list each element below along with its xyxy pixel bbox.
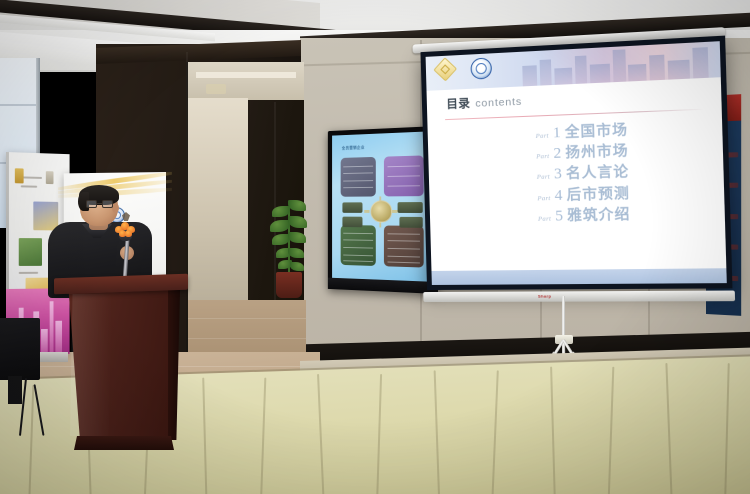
slide-title-en: contents xyxy=(475,96,522,110)
contents-part-label: Part xyxy=(537,174,550,182)
floor-monitor[interactable] xyxy=(0,318,40,380)
contents-item: Part 3 名人言论 xyxy=(537,162,712,184)
wall-tv-monitor[interactable]: 全员营销企业 xyxy=(328,126,438,294)
diagram-quadrant-top-left xyxy=(341,157,376,197)
slide-footer-bar xyxy=(431,269,726,285)
screen-brand-label: Sharp xyxy=(538,293,551,298)
tv-slide-title: 全员营销企业 xyxy=(342,144,365,151)
corridor-wall-sconce xyxy=(206,84,226,94)
contents-item: Part 4 后市预测 xyxy=(537,183,712,204)
eyeglasses-icon xyxy=(86,200,113,208)
screen-bottom-bar xyxy=(423,291,735,303)
diagram-quadrant-bottom-right xyxy=(384,226,423,268)
poster-photo xyxy=(19,238,42,266)
podium-highlight xyxy=(70,294,112,436)
microphone-flower-decoration xyxy=(114,222,136,238)
corridor-light xyxy=(196,72,296,78)
presentation-slide: 目录 contents Part 1 全国市场 Part 2 扬州市场 xyxy=(426,41,727,285)
podium-side-edge xyxy=(168,290,180,440)
window-mullion xyxy=(0,104,40,106)
slide-title-cn: 目录 xyxy=(446,95,470,112)
poster-photo xyxy=(33,201,58,229)
diagram-tag-tools xyxy=(400,217,423,228)
circular-seal-icon xyxy=(470,57,492,79)
conference-room-scene: 全员营销企业 xyxy=(0,0,750,494)
corridor-wall xyxy=(188,98,248,308)
contents-text: 雅筑介绍 xyxy=(567,206,631,222)
contents-part-label: Part xyxy=(537,194,550,201)
diagram-quadrant-top-right xyxy=(384,156,423,197)
contents-item: Part 5 雅筑介绍 xyxy=(538,204,713,224)
poster-thumbnail xyxy=(15,169,24,183)
contents-item: Part 2 扬州市场 xyxy=(536,140,711,162)
diagram-center-hub xyxy=(370,201,392,223)
contents-number: 1 xyxy=(553,126,561,142)
diagram-tag-strategy xyxy=(343,202,363,212)
monitor-stand xyxy=(8,376,22,404)
speaker-ear xyxy=(112,203,119,213)
contents-part-label: Part xyxy=(538,215,551,222)
contents-text: 扬州市场 xyxy=(565,143,629,160)
contents-part-label: Part xyxy=(536,153,549,161)
slide-title: 目录 contents xyxy=(446,92,522,111)
poster-thumbnail xyxy=(46,171,54,183)
contents-number: 2 xyxy=(553,146,561,162)
diagram-quadrant-bottom-left xyxy=(341,225,376,266)
diagram-tag-organization xyxy=(398,202,423,212)
contents-text: 名人言论 xyxy=(566,164,630,180)
diagram-tag-customers xyxy=(343,217,363,227)
plant-pot xyxy=(276,272,302,298)
screen-frame: 目录 contents Part 1 全国市场 Part 2 扬州市场 xyxy=(421,36,733,290)
contents-part-label: Part xyxy=(536,132,549,140)
diamond-emblem-icon xyxy=(434,58,458,82)
contents-item: Part 1 全国市场 xyxy=(535,119,710,142)
speaker-podium xyxy=(54,276,188,452)
contents-text: 全国市场 xyxy=(565,122,629,139)
contents-number: 3 xyxy=(554,167,562,183)
slide-contents-list: Part 1 全国市场 Part 2 扬州市场 Part 3 名人言论 xyxy=(535,119,712,229)
tv-screen-content: 全员营销企业 xyxy=(332,131,433,282)
projection-screen[interactable]: 目录 contents Part 1 全国市场 Part 2 扬州市场 xyxy=(421,36,733,304)
contents-text: 后市预测 xyxy=(566,185,630,201)
podium-base xyxy=(74,436,174,450)
slide-header-banner xyxy=(426,41,721,91)
contents-number: 5 xyxy=(555,209,563,225)
contents-number: 4 xyxy=(555,188,563,204)
